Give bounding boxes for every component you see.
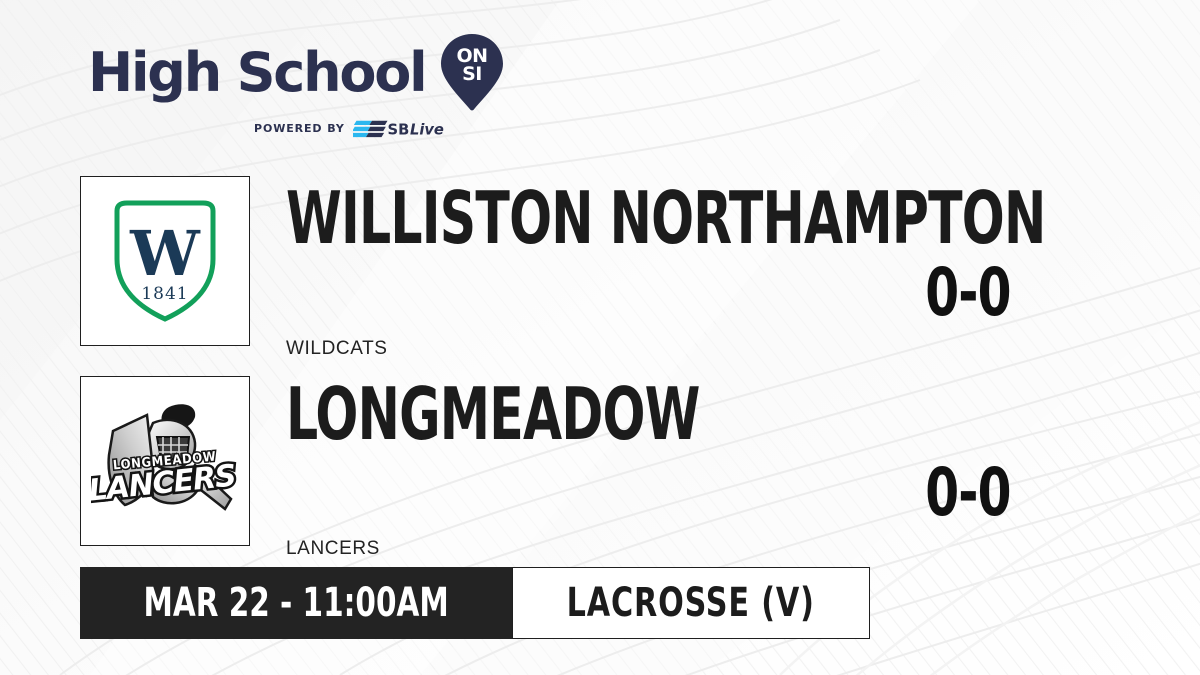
- williston-year: 1841: [141, 284, 188, 304]
- powered-by-row: POWERED BY SB Live: [88, 119, 505, 138]
- away-team-logo-box[interactable]: W 1841: [80, 176, 250, 346]
- longmeadow-lancers-icon: LONGMEADOW LANCERS: [91, 399, 239, 523]
- away-team-name[interactable]: WILLISTON NORTHAMPTON: [286, 182, 1045, 254]
- powered-by-label: POWERED BY: [254, 122, 345, 135]
- sblive-sb-text: SB: [387, 122, 409, 138]
- brand-title-row: High School ON SI: [88, 34, 505, 112]
- sblive-logo: SB Live: [353, 119, 450, 138]
- sblive-live-text: Live: [410, 122, 444, 138]
- onsi-pin-logo: ON SI: [439, 32, 505, 112]
- williston-shield-icon: W 1841: [105, 197, 225, 325]
- away-team-mascot: WILDCATS: [286, 338, 388, 360]
- onsi-pin-line2: SI: [463, 63, 483, 85]
- away-team-record: 0-0: [886, 260, 1050, 326]
- game-datetime-chip[interactable]: MAR 22 - 11:00AM: [80, 567, 512, 639]
- game-info-bar: MAR 22 - 11:00AM LACROSSE (V): [80, 567, 870, 639]
- home-team-mascot: LANCERS: [286, 538, 380, 560]
- home-team-logo-box[interactable]: LONGMEADOW LANCERS: [80, 376, 250, 546]
- game-sport-chip[interactable]: LACROSSE (V): [512, 567, 869, 639]
- brand-header: High School ON SI POWERED BY SB Live: [88, 34, 505, 138]
- game-sport-text: LACROSSE (V): [567, 583, 815, 623]
- brand-wordmark: High School: [88, 46, 425, 100]
- home-team-record: 0-0: [886, 460, 1050, 526]
- williston-letter: W: [129, 217, 201, 290]
- home-team-name[interactable]: LONGMEADOW: [286, 378, 700, 450]
- game-datetime-text: MAR 22 - 11:00AM: [143, 583, 448, 623]
